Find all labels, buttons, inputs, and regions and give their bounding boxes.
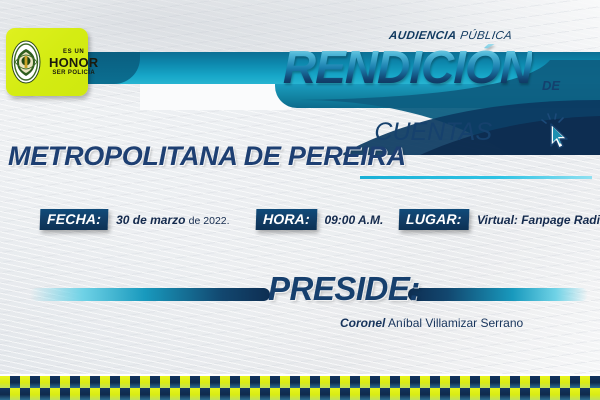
checker-cell — [110, 376, 120, 388]
checker-cell — [380, 388, 390, 400]
checker-cell — [430, 388, 440, 400]
info-value-hora: 09:00 A.M. — [324, 213, 383, 227]
checker-cell — [160, 376, 170, 388]
checker-cell — [300, 388, 310, 400]
checker-cell — [470, 388, 480, 400]
checker-cell — [350, 388, 360, 400]
checker-cell — [200, 388, 210, 400]
checker-cell — [390, 376, 400, 388]
checker-cell — [560, 376, 570, 388]
checker-cell — [190, 376, 200, 388]
checker-cell — [440, 388, 450, 400]
checker-cell — [280, 388, 290, 400]
checker-cell — [20, 388, 30, 400]
checker-cell — [80, 376, 90, 388]
checker-cell — [270, 376, 280, 388]
checker-cell — [580, 376, 590, 388]
checker-cell — [450, 388, 460, 400]
checker-cell — [500, 376, 510, 388]
fecha-bold: 30 de marzo — [116, 213, 185, 227]
checker-cell — [520, 376, 530, 388]
checker-row-top — [0, 376, 600, 388]
checker-cell — [560, 388, 570, 400]
badge-text: ES UN HONOR SER POLICÍA — [49, 49, 101, 76]
checker-cell — [0, 376, 10, 388]
checker-cell — [550, 388, 560, 400]
checker-cell — [260, 376, 270, 388]
checker-cell — [400, 388, 410, 400]
checker-cell — [130, 388, 140, 400]
checker-cell — [340, 388, 350, 400]
checker-cell — [490, 388, 500, 400]
checker-cell — [410, 388, 420, 400]
title-underline-rule — [360, 176, 592, 179]
checker-cell — [500, 388, 510, 400]
checker-cell — [140, 388, 150, 400]
checker-cell — [120, 388, 130, 400]
checker-cell — [230, 388, 240, 400]
checker-cell — [120, 376, 130, 388]
police-honor-badge: ES UN HONOR SER POLICÍA — [6, 28, 88, 96]
checker-cell — [70, 388, 80, 400]
checker-cell — [480, 376, 490, 388]
checker-cell — [270, 388, 280, 400]
checker-cell — [580, 388, 590, 400]
checker-cell — [450, 376, 460, 388]
event-info-row: FECHA: 30 de marzo de 2022. HORA: 09:00 … — [40, 209, 600, 230]
checker-cell — [100, 376, 110, 388]
checker-cell — [130, 376, 140, 388]
checker-cell — [330, 376, 340, 388]
checker-cell — [240, 376, 250, 388]
checker-cell — [50, 376, 60, 388]
checker-cell — [460, 376, 470, 388]
checker-cell — [390, 388, 400, 400]
checker-cell — [540, 388, 550, 400]
checker-cell — [40, 376, 50, 388]
checker-row-bottom — [0, 388, 600, 400]
checker-cell — [170, 376, 180, 388]
checker-cell — [420, 376, 430, 388]
checker-cell — [330, 388, 340, 400]
checker-cell — [70, 376, 80, 388]
checker-cell — [0, 388, 10, 400]
checker-cell — [10, 376, 20, 388]
checker-cell — [310, 388, 320, 400]
preside-person: Coronel Aníbal Villamizar Serrano — [340, 316, 523, 330]
rendicion-de-cuentas-poster: ES UN HONOR SER POLICÍA AUDIENCIA PÚBLIC… — [0, 0, 600, 400]
preside-label: PRESIDE: — [268, 272, 420, 305]
badge-line-3: SER POLICÍA — [49, 70, 98, 76]
checker-cell — [380, 376, 390, 388]
checker-cell — [30, 376, 40, 388]
checker-cell — [520, 388, 530, 400]
police-shield-emblem-icon — [11, 40, 41, 84]
checker-cell — [90, 376, 100, 388]
info-tag-fecha: FECHA: — [40, 209, 109, 230]
lugar-bold: Virtual: Fanpage Radio Policia Pereira — [477, 213, 600, 227]
checker-cell — [590, 388, 600, 400]
info-tag-lugar: LUGAR: — [399, 209, 469, 230]
checker-cell — [470, 376, 480, 388]
checker-cell — [230, 376, 240, 388]
checker-cell — [180, 388, 190, 400]
checker-cell — [190, 388, 200, 400]
event-title-main: RENDICIÓN — [283, 44, 532, 90]
hora-bold: 09:00 A.M. — [324, 213, 383, 227]
checker-cell — [540, 376, 550, 388]
preside-bar-left — [30, 288, 270, 301]
badge-line-2: HONOR — [49, 56, 98, 69]
checker-cell — [480, 388, 490, 400]
checker-cell — [440, 376, 450, 388]
checker-cell — [210, 376, 220, 388]
checker-cell — [280, 376, 290, 388]
checker-cell — [170, 388, 180, 400]
checker-cell — [490, 376, 500, 388]
checker-cell — [220, 388, 230, 400]
preside-rank: Coronel — [340, 316, 385, 330]
checker-cell — [430, 376, 440, 388]
checker-cell — [320, 388, 330, 400]
checker-cell — [20, 376, 30, 388]
checker-cell — [150, 376, 160, 388]
fecha-light: de 2022. — [189, 215, 230, 227]
checker-cell — [360, 376, 370, 388]
checker-cell — [530, 388, 540, 400]
checker-cell — [100, 388, 110, 400]
checker-cell — [550, 376, 560, 388]
checker-cell — [410, 376, 420, 388]
checker-cell — [370, 376, 380, 388]
checker-cell — [370, 388, 380, 400]
info-value-fecha: 30 de marzo de 2022. — [116, 213, 229, 227]
checker-cell — [210, 388, 220, 400]
checker-cell — [240, 388, 250, 400]
checker-cell — [140, 376, 150, 388]
battenburg-checker-strip — [0, 376, 600, 400]
checker-cell — [320, 376, 330, 388]
preside-bar-right — [408, 288, 588, 301]
checker-cell — [290, 388, 300, 400]
checker-cell — [310, 376, 320, 388]
checker-cell — [220, 376, 230, 388]
checker-cell — [110, 388, 120, 400]
checker-cell — [30, 388, 40, 400]
page-title: METROPOLITANA DE PEREIRA — [8, 141, 406, 172]
checker-cell — [290, 376, 300, 388]
checker-cell — [90, 388, 100, 400]
click-cursor-icon — [541, 112, 575, 152]
checker-cell — [80, 388, 90, 400]
checker-cell — [570, 388, 580, 400]
checker-cell — [510, 376, 520, 388]
checker-cell — [180, 376, 190, 388]
checker-cell — [590, 376, 600, 388]
checker-cell — [10, 388, 20, 400]
checker-cell — [160, 388, 170, 400]
checker-cell — [60, 388, 70, 400]
checker-cell — [350, 376, 360, 388]
checker-cell — [460, 388, 470, 400]
preside-name: Aníbal Villamizar Serrano — [388, 316, 523, 330]
checker-cell — [340, 376, 350, 388]
checker-cell — [360, 388, 370, 400]
checker-cell — [420, 388, 430, 400]
checker-cell — [50, 388, 60, 400]
event-title-connector: DE — [542, 78, 560, 93]
info-tag-hora: HORA: — [255, 209, 317, 230]
badge-line-1: ES UN — [49, 49, 98, 55]
checker-cell — [510, 388, 520, 400]
checker-cell — [300, 376, 310, 388]
checker-cell — [150, 388, 160, 400]
checker-cell — [250, 376, 260, 388]
checker-cell — [260, 388, 270, 400]
checker-cell — [40, 388, 50, 400]
checker-cell — [250, 388, 260, 400]
checker-cell — [200, 376, 210, 388]
checker-cell — [60, 376, 70, 388]
checker-cell — [530, 376, 540, 388]
info-value-lugar: Virtual: Fanpage Radio Policia Pereira — [477, 213, 600, 227]
checker-cell — [570, 376, 580, 388]
checker-cell — [400, 376, 410, 388]
